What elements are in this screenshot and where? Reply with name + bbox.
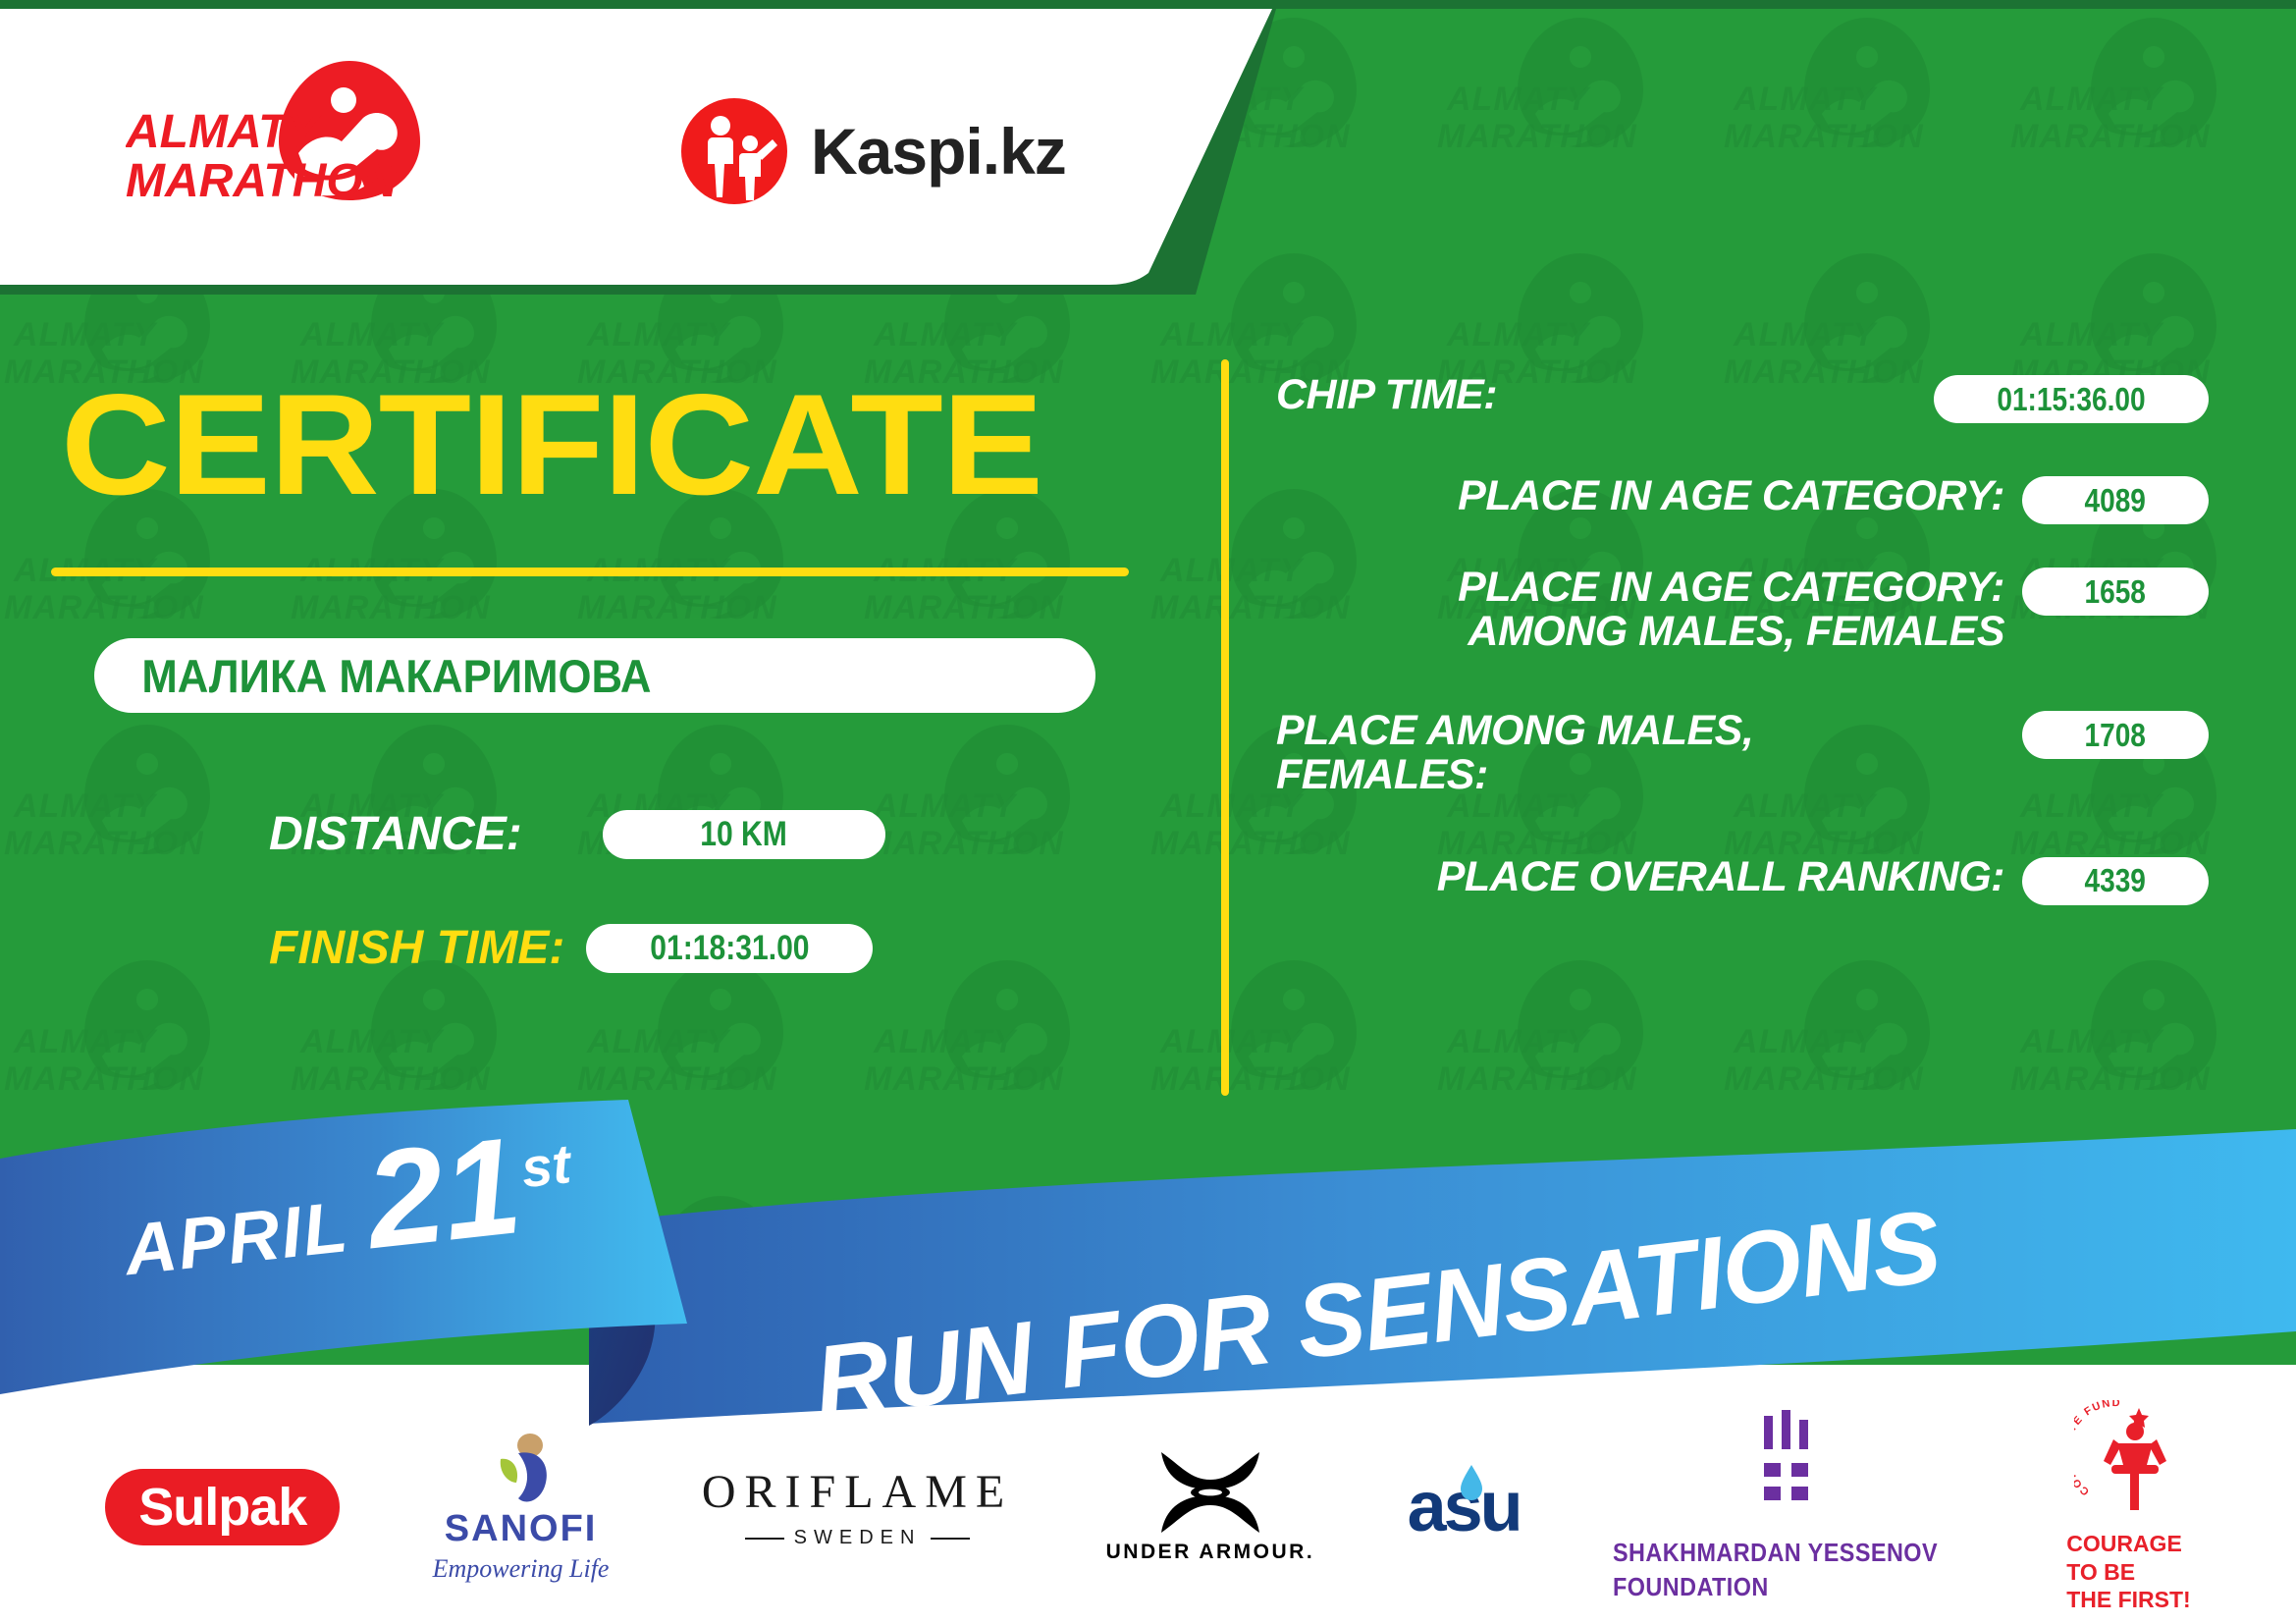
sanofi-tagline: Empowering Life	[433, 1554, 610, 1584]
page-title: CERTIFICATE	[61, 373, 1042, 516]
stats-panel: CHIP TIME: 01:15:36.00 PLACE IN AGE CATE…	[1276, 373, 2209, 947]
sulpak-logo: Sulpak	[105, 1469, 340, 1545]
yessenov-line2: FOUNDATION	[1613, 1570, 1938, 1604]
certificate-canvas: ALMATY MARATHON ALMATY MARATHON	[0, 0, 2296, 1624]
finish-time-value-pill: 01:18:31.00	[586, 924, 873, 973]
stat-value: 4089	[2085, 482, 2146, 519]
courage-line1: COURAGE	[2066, 1530, 2191, 1558]
stat-value: 1658	[2085, 573, 2146, 611]
participant-name: МАЛИКА МАКАРИМОВА	[94, 649, 652, 703]
stat-label: CHIP TIME:	[1276, 373, 1934, 417]
divider-line-right	[931, 1538, 970, 1540]
kaspi-people-icon	[675, 92, 793, 210]
stat-row-place-overall: PLACE OVERALL RANKING: 4339	[1276, 855, 2209, 905]
courage-line3: THE FIRST!	[2066, 1586, 2191, 1614]
participant-name-pill: МАЛИКА МАКАРИМОВА	[94, 638, 1095, 713]
stat-value-pill: 4339	[2022, 857, 2209, 905]
sponsor-under-armour: UNDER ARMOUR.	[1106, 1450, 1315, 1564]
stat-label: PLACE AMONG MALES, FEMALES:	[1276, 709, 2022, 797]
stat-value-pill: 01:15:36.00	[1934, 375, 2209, 423]
oriflame-subline: SWEDEN	[745, 1527, 971, 1549]
stat-label-line2: AMONG MALES, FEMALES	[1276, 610, 2004, 654]
logo-line-marathon: MARATHON	[126, 155, 399, 204]
asu-droplet-icon	[1459, 1463, 1484, 1502]
sponsor-oriflame: ORIFLAME SWEDEN	[702, 1465, 1013, 1549]
under-armour-icon	[1148, 1450, 1273, 1535]
kaspi-wordmark: Kaspi.kz	[811, 114, 1066, 189]
stat-value: 1708	[2085, 717, 2146, 754]
stat-label-line1: PLACE IN AGE CATEGORY:	[1276, 566, 2004, 610]
finish-time-value: 01:18:31.00	[650, 929, 809, 968]
sanofi-wordmark: SANOFI	[445, 1508, 598, 1550]
stat-row-place-among-gender: PLACE AMONG MALES, FEMALES: 1708	[1276, 709, 2209, 797]
sponsor-asu: asu	[1408, 1467, 1521, 1547]
sponsor-sanofi: SANOFI Empowering Life	[433, 1432, 610, 1584]
logo-line-almaty: ALMATY	[126, 106, 322, 158]
sponsor-logos: Sulpak SANOFI Empowering Life ORIFLAME S…	[0, 1414, 2296, 1600]
yessenov-wordmark: SHAKHMARDAN YESSENOV FOUNDATION	[1613, 1536, 1938, 1604]
distance-label: DISTANCE:	[269, 807, 522, 861]
kaspi-logo: Kaspi.kz	[675, 92, 1066, 210]
stat-row-place-age-category: PLACE IN AGE CATEGORY: 4089	[1276, 474, 2209, 524]
under-armour-wordmark: UNDER ARMOUR.	[1106, 1541, 1315, 1564]
stat-value-pill: 4089	[2022, 476, 2209, 524]
stat-value-pill: 1658	[2022, 568, 2209, 616]
sponsor-courage-to-be-first: CORPORATE FUND COURAGE TO BE THE FIRST!	[2066, 1400, 2191, 1614]
stat-row-place-age-category-gender: PLACE IN AGE CATEGORY: AMONG MALES, FEMA…	[1276, 566, 2209, 654]
finish-time-row: FINISH TIME: 01:18:31.00	[269, 921, 873, 975]
yessenov-icon	[1758, 1410, 1829, 1516]
distance-value-pill: 10 KM	[603, 810, 885, 859]
stat-label: PLACE IN AGE CATEGORY: AMONG MALES, FEMA…	[1276, 566, 2022, 654]
ribbon-day-suffix: st	[518, 1131, 574, 1200]
stat-value: 4339	[2085, 862, 2146, 899]
courage-fund-icon: CORPORATE FUND	[2074, 1400, 2182, 1518]
stat-label: PLACE IN AGE CATEGORY:	[1276, 474, 2022, 518]
sulpak-wordmark: Sulpak	[138, 1478, 306, 1537]
title-underline	[51, 568, 1129, 576]
distance-value: 10 KM	[700, 815, 787, 854]
courage-wordmark: COURAGE TO BE THE FIRST!	[2066, 1530, 2191, 1614]
stat-label: PLACE OVERALL RANKING:	[1276, 855, 2022, 899]
sponsor-sulpak: Sulpak	[105, 1469, 340, 1545]
finish-time-label: FINISH TIME:	[269, 921, 564, 975]
divider-line-left	[745, 1538, 784, 1540]
yessenov-line1: SHAKHMARDAN YESSENOV	[1613, 1536, 1938, 1570]
sanofi-icon	[479, 1432, 563, 1508]
stat-value-pill: 1708	[2022, 711, 2209, 759]
ribbon-day: 21	[361, 1123, 526, 1263]
distance-row: DISTANCE: 10 KM	[269, 807, 885, 861]
almaty-marathon-logo: ALMATY MARATHON	[126, 57, 450, 204]
stat-value: 01:15:36.00	[1997, 381, 2145, 418]
oriflame-wordmark: ORIFLAME	[702, 1465, 1013, 1519]
vertical-divider	[1221, 359, 1229, 1096]
stat-row-chip-time: CHIP TIME: 01:15:36.00	[1276, 373, 2209, 423]
oriflame-country: SWEDEN	[794, 1527, 922, 1549]
sponsor-yessenov-foundation: SHAKHMARDAN YESSENOV FOUNDATION	[1613, 1410, 1974, 1604]
header-logos: ALMATY MARATHON Kaspi.kz	[0, 0, 1178, 285]
stat-label-line1: PLACE AMONG MALES,	[1276, 709, 2004, 753]
stat-label-line2: FEMALES:	[1276, 753, 2004, 797]
courage-line2: TO BE	[2066, 1558, 2191, 1587]
